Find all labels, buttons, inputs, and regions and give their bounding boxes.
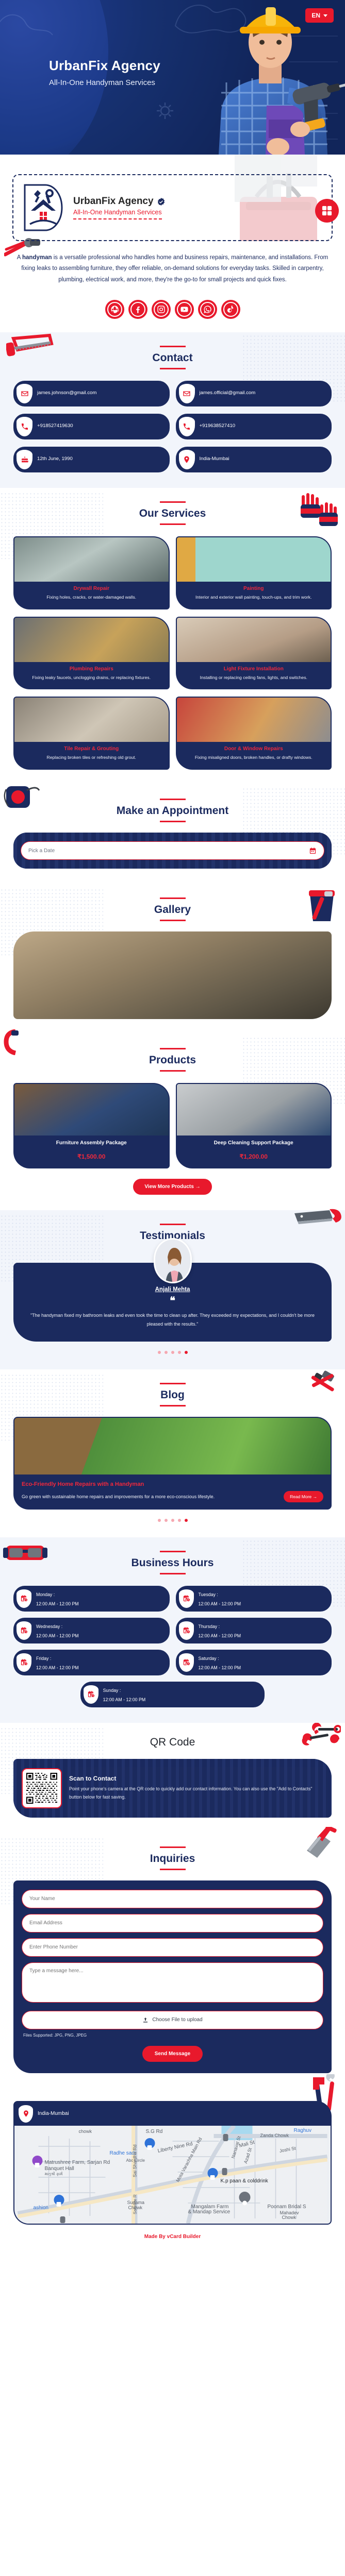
day-label: Thursday : (199, 1624, 220, 1629)
website-icon[interactable] (106, 301, 123, 318)
svg-text:માતૃશ્રી ફાર્મ: માતૃશ્રી ફાર્મ (45, 2171, 63, 2176)
svg-text:& Mandap Service: & Mandap Service (188, 2209, 231, 2215)
carousel-dot-active[interactable] (185, 1351, 188, 1354)
testimonial-carousel-dots (13, 1342, 332, 1354)
verified-badge-icon (157, 198, 165, 206)
service-image (14, 698, 169, 742)
service-name: Light Fixture Installation (182, 666, 326, 672)
contact-item-email-1[interactable]: james.johnson@gmail.com (13, 381, 170, 406)
map-image[interactable]: chowk S.G Rd Zanda Chowk Raghuv Mali St … (14, 2126, 331, 2224)
product-card[interactable]: Furniture Assembly Package ₹1,500.00 (13, 1083, 170, 1168)
vcard-page: EN UrbanFix Agency All-In-One Handyman S… (0, 0, 345, 2250)
product-card[interactable]: Deep Cleaning Support Package ₹1,200.00 (176, 1083, 332, 1168)
quote-mark-icon: ❝ (25, 1296, 320, 1306)
title-rule-bottom (160, 920, 186, 921)
product-name: Deep Cleaning Support Package (181, 1140, 327, 1147)
calendar-clock-icon (179, 1653, 194, 1672)
gallery-title: Gallery (0, 904, 345, 916)
contact-value: james.johnson@gmail.com (37, 390, 96, 397)
svg-text:Radhe sadi: Radhe sadi (110, 2150, 136, 2156)
gallery-image[interactable] (13, 931, 332, 1019)
urbanfix-logo-icon (22, 182, 65, 233)
birthday-cake-icon (17, 450, 32, 469)
contact-value: +919638527410 (200, 423, 236, 430)
contact-item-phone-1[interactable]: +918527419630 (13, 414, 170, 439)
facebook-icon[interactable] (129, 301, 146, 318)
day-time: 12:00 AM - 12:00 PM (36, 1665, 79, 1670)
service-image (177, 618, 331, 662)
inquiries-title: Inquiries (0, 1853, 345, 1865)
business-hours-row: Tuesday :12:00 AM - 12:00 PM (176, 1586, 332, 1612)
email-icon (17, 384, 32, 403)
hero-title: UrbanFix Agency (49, 58, 160, 74)
appointment-section: Make an Appointment Pick a Date (0, 785, 345, 884)
phone-input[interactable] (22, 1938, 323, 1957)
inquiries-section: Inquiries Choose File to upload Files Su… (0, 1833, 345, 2089)
title-rule-top (160, 501, 186, 503)
business-hours-title: Business Hours (0, 1557, 345, 1569)
qr-code-icon[interactable] (315, 199, 339, 223)
product-image (177, 1084, 331, 1136)
service-name: Drywall Repair (20, 586, 163, 591)
business-hours-section: Business Hours Monday :12:00 AM - 12:00 … (0, 1537, 345, 1723)
business-hours-list: Monday :12:00 AM - 12:00 PM Tuesday :12:… (0, 1574, 345, 1707)
carousel-dot[interactable] (165, 1351, 168, 1354)
inquiry-form: Choose File to upload Files Supported: J… (13, 1880, 332, 2073)
date-placeholder: Pick a Date (28, 848, 55, 854)
svg-text:Matrushree Farm, Sarjan Rd: Matrushree Farm, Sarjan Rd (45, 2160, 110, 2165)
about-text: A handyman is a versatile professional w… (13, 252, 332, 285)
location-pin-icon (179, 450, 195, 469)
services-title: Our Services (0, 507, 345, 520)
service-card[interactable]: Door & Window Repairs Fixing misaligned … (176, 697, 332, 770)
product-price: ₹1,200.00 (181, 1153, 327, 1160)
service-desc: Fixing holes, cracks, or water-damaged w… (20, 594, 163, 601)
testimonial-author: Anjali Mehta (25, 1286, 320, 1293)
title-rule-bottom (160, 1869, 186, 1870)
products-title: Products (0, 1054, 345, 1066)
contact-value: +918527419630 (37, 423, 73, 430)
title-rule-top (160, 1048, 186, 1049)
footer-credit: Made By vCard Builder (0, 2225, 345, 2250)
service-card[interactable]: Tile Repair & Grouting Replacing broken … (13, 697, 170, 770)
upload-icon (142, 2017, 149, 2023)
gallery-section: Gallery (0, 884, 345, 1035)
blog-section: Blog Eco-Friendly Home Repairs with a Ha… (0, 1369, 345, 1537)
read-more-button[interactable]: Read More → (284, 1491, 323, 1502)
carousel-dot[interactable] (171, 1519, 174, 1522)
service-image (177, 698, 331, 742)
service-name: Painting (182, 586, 326, 591)
map-card[interactable]: India-Mumbai (13, 2101, 332, 2225)
about-section: A handyman is a versatile professional w… (0, 241, 345, 290)
youtube-icon[interactable] (176, 301, 193, 318)
logo-card-section: UrbanFix Agency All-In-One Handyman Serv… (0, 155, 345, 241)
title-rule-top (160, 1551, 186, 1552)
qr-heading: Scan to Contact (69, 1775, 323, 1782)
qr-matrix (25, 1772, 58, 1805)
svg-text:S.G Rd: S.G Rd (146, 2129, 163, 2134)
service-image (14, 618, 169, 662)
contact-item-location[interactable]: India-Mumbai (176, 447, 332, 472)
services-grid: Drywall Repair Fixing holes, cracks, or … (0, 525, 345, 770)
contact-section: Contact james.johnson@gmail.com james.of… (0, 332, 345, 488)
avatar-photo (155, 1240, 192, 1283)
qr-code-image[interactable] (22, 1768, 62, 1808)
carousel-dot-active[interactable] (185, 1519, 188, 1522)
products-grid: Furniture Assembly Package ₹1,500.00 Dee… (0, 1072, 345, 1168)
day-time: 12:00 AM - 12:00 PM (199, 1665, 241, 1670)
hero-section: EN UrbanFix Agency All-In-One Handyman S… (0, 0, 345, 155)
hero-subtitle: All-In-One Handyman Services (49, 78, 160, 87)
product-price: ₹1,500.00 (19, 1153, 165, 1160)
svg-text:Raghuv: Raghuv (294, 2128, 311, 2133)
logo-name-block: UrbanFix Agency All-In-One Handyman Serv… (73, 196, 323, 219)
day-time: 12:00 AM - 12:00 PM (36, 1633, 79, 1638)
avatar (154, 1238, 192, 1283)
svg-text:Poonam Bridal S: Poonam Bridal S (268, 2204, 306, 2210)
day-time: 12:00 AM - 12:00 PM (199, 1633, 241, 1638)
service-desc: Interior and exterior wall painting, tou… (182, 594, 326, 601)
service-desc: Fixing leaky faucets, unclogging drains,… (20, 674, 163, 682)
product-image (14, 1084, 169, 1136)
day-label: Sunday : (103, 1688, 121, 1693)
service-name: Door & Window Repairs (182, 746, 326, 752)
whatsapp-icon[interactable] (199, 301, 216, 318)
phone-icon (179, 417, 195, 436)
service-card[interactable]: Plumbing Repairs Fixing leaky faucets, u… (13, 617, 170, 690)
name-input[interactable] (22, 1890, 323, 1908)
calendar-clock-icon (179, 1589, 194, 1608)
qr-description: Point your phone's camera at the QR code… (69, 1785, 323, 1802)
tiktok-icon[interactable] (222, 301, 239, 318)
calendar-icon (309, 847, 317, 855)
svg-text:chowk: chowk (79, 2129, 92, 2134)
svg-text:Zanda Chowk: Zanda Chowk (260, 2133, 289, 2138)
blog-post-desc: Go green with sustainable home repairs a… (22, 1493, 245, 1501)
day-label: Saturday : (199, 1656, 219, 1661)
message-textarea[interactable] (22, 1962, 323, 2003)
day-time: 12:00 AM - 12:00 PM (103, 1697, 146, 1702)
day-label: Monday : (36, 1592, 55, 1597)
carousel-dot[interactable] (158, 1351, 161, 1354)
service-card[interactable]: Painting Interior and exterior wall pain… (176, 536, 332, 609)
map-section: India-Mumbai (0, 2101, 345, 2225)
handsaw-decoration (293, 1208, 343, 1229)
contact-value: james.official@gmail.com (200, 390, 256, 397)
svg-text:Chowk: Chowk (282, 2215, 297, 2220)
contact-item-birthday[interactable]: 12th June, 1990 (13, 447, 170, 472)
svg-text:Banquet Hall: Banquet Hall (45, 2166, 74, 2172)
service-desc: Fixing misaligned doors, broken handles,… (182, 754, 326, 761)
appointment-card: Pick a Date (13, 833, 332, 869)
business-name: UrbanFix Agency (73, 196, 323, 207)
instagram-icon[interactable] (153, 301, 170, 318)
file-upload-label: Choose File to upload (152, 2017, 202, 2023)
calendar-clock-icon (17, 1621, 31, 1640)
svg-text:ashion: ashion (34, 2205, 48, 2211)
language-selector-button[interactable]: EN (305, 8, 334, 23)
title-rule-top (160, 897, 186, 899)
calendar-clock-icon (179, 1621, 194, 1640)
map-location-header: India-Mumbai (14, 2102, 331, 2126)
calendar-clock-icon (17, 1589, 31, 1608)
blog-card[interactable]: Eco-Friendly Home Repairs with a Handyma… (13, 1417, 332, 1509)
day-time: 12:00 AM - 12:00 PM (199, 1601, 241, 1606)
business-hours-row: Saturday :12:00 AM - 12:00 PM (176, 1650, 332, 1675)
logo-card: UrbanFix Agency All-In-One Handyman Serv… (12, 174, 333, 241)
service-desc: Replacing broken tiles or refreshing old… (20, 754, 163, 761)
calendar-clock-icon (84, 1685, 98, 1704)
send-message-button[interactable]: Send Message (142, 2046, 203, 2062)
map-render: chowk S.G Rd Zanda Chowk Raghuv Mali St … (14, 2126, 331, 2224)
contact-item-email-2[interactable]: james.official@gmail.com (176, 381, 332, 406)
service-image (14, 537, 169, 582)
qr-code-section: QR Code (0, 1723, 345, 1833)
carousel-dot[interactable] (171, 1351, 174, 1354)
email-icon (179, 384, 195, 403)
product-name: Furniture Assembly Package (19, 1140, 165, 1147)
business-hours-row: Thursday :12:00 AM - 12:00 PM (176, 1618, 332, 1643)
services-section: Our Services Drywall Repair Fixing holes… (0, 488, 345, 785)
day-time: 12:00 AM - 12:00 PM (36, 1601, 79, 1606)
contact-list: james.johnson@gmail.com james.official@g… (0, 369, 345, 472)
blog-title: Blog (0, 1389, 345, 1401)
business-hours-row-sunday: Sunday :12:00 AM - 12:00 PM (80, 1682, 265, 1707)
day-label: Friday : (36, 1656, 51, 1661)
testimonial-card-wrap: Anjali Mehta ❝ "The handyman fixed my ba… (13, 1263, 332, 1354)
svg-text:Satellite R: Satellite R (133, 2194, 138, 2214)
contact-title: Contact (0, 352, 345, 364)
business-hours-row: Wednesday :12:00 AM - 12:00 PM (13, 1618, 170, 1643)
business-hours-row: Friday :12:00 AM - 12:00 PM (13, 1650, 170, 1675)
title-rule-bottom (160, 821, 186, 822)
blog-post-title: Eco-Friendly Home Repairs with a Handyma… (22, 1481, 323, 1487)
title-rule-top (160, 346, 186, 347)
phone-icon (17, 417, 32, 436)
hero-handyman-photo (190, 0, 345, 155)
social-links (0, 290, 345, 332)
date-picker-input[interactable]: Pick a Date (21, 841, 324, 860)
qr-section-title: QR Code (0, 1736, 345, 1749)
language-label: EN (311, 12, 320, 19)
service-image (177, 537, 331, 582)
title-rule-bottom (160, 1405, 186, 1406)
day-label: Wednesday : (36, 1624, 62, 1629)
blog-image (14, 1418, 331, 1475)
carousel-dot[interactable] (165, 1519, 168, 1522)
location-pin-icon (19, 2105, 33, 2123)
view-more-products-button[interactable]: View More Products → (133, 1179, 211, 1195)
blog-carousel-dots (0, 1510, 345, 1522)
hero-text-block: UrbanFix Agency All-In-One Handyman Serv… (49, 58, 160, 87)
file-upload-button[interactable]: Choose File to upload (22, 2011, 323, 2029)
carousel-dot[interactable] (178, 1519, 181, 1522)
contact-value: India-Mumbai (200, 456, 229, 463)
carousel-dot[interactable] (178, 1351, 181, 1354)
hero-blob-decoration-2 (0, 5, 57, 46)
email-input[interactable] (22, 1914, 323, 1933)
svg-text:K.p paan & colddrink: K.p paan & colddrink (221, 2178, 269, 2184)
svg-text:Sai Shardha Rd: Sai Shardha Rd (133, 2144, 138, 2177)
carousel-dot[interactable] (158, 1519, 161, 1522)
service-card[interactable]: Light Fixture Installation Installing or… (176, 617, 332, 690)
calendar-clock-icon (17, 1653, 31, 1672)
chevron-down-icon (323, 14, 327, 17)
map-location-label: India-Mumbai (38, 2111, 69, 2116)
appointment-title: Make an Appointment (0, 805, 345, 817)
qr-card: Scan to Contact Point your phone's camer… (13, 1759, 332, 1818)
business-tagline: All-In-One Handyman Services (73, 209, 162, 219)
products-section: Products Furniture Assembly Package ₹1,5… (0, 1035, 345, 1210)
files-supported-note: Files Supported: JPG, PNG, JPEG (23, 2033, 323, 2038)
service-name: Tile Repair & Grouting (20, 746, 163, 752)
title-rule-top (160, 1224, 186, 1225)
day-label: Tuesday : (199, 1592, 218, 1597)
business-hours-row: Monday :12:00 AM - 12:00 PM (13, 1586, 170, 1612)
title-rule-top (160, 1846, 186, 1848)
testimonial-text: "The handyman fixed my bathroom leaks an… (25, 1311, 320, 1328)
qr-grid-icon (322, 206, 332, 216)
service-desc: Installing or replacing ceiling fans, li… (182, 674, 326, 682)
title-rule-top (160, 1383, 186, 1384)
title-rule-top (160, 799, 186, 800)
service-card[interactable]: Drywall Repair Fixing holes, cracks, or … (13, 536, 170, 609)
testimonials-section: Testimonials Anjali Mehta ❝ "The handyma… (0, 1210, 345, 1369)
gear-icon (155, 100, 175, 121)
service-name: Plumbing Repairs (20, 666, 163, 672)
contact-item-phone-2[interactable]: +919638527410 (176, 414, 332, 439)
contact-value: 12th June, 1990 (37, 456, 73, 463)
